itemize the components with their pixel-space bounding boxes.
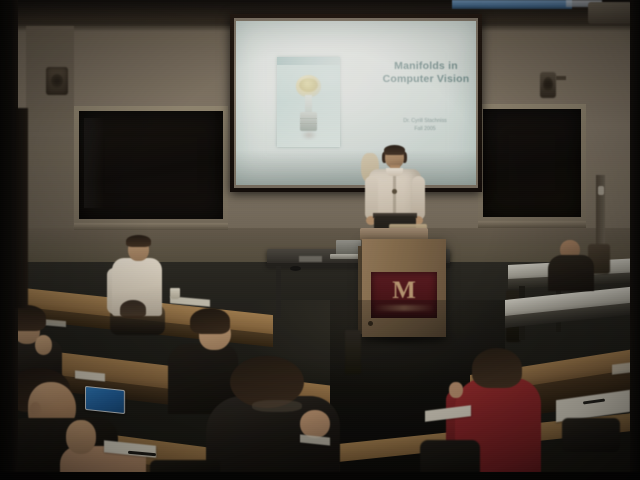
wall-switch-plate (598, 186, 604, 195)
slide-subtitle: Dr. Cyrill Stachniss Fall 2005 (382, 117, 468, 133)
right-frame-edge (630, 0, 640, 480)
left-door-frame (14, 108, 28, 308)
presenter-collar (386, 168, 403, 176)
audience-hair-center-row2 (190, 308, 230, 334)
audience-head-red-shirt (472, 348, 522, 388)
chalkboard-right (483, 109, 581, 217)
audience-hair-white-shirt (126, 235, 151, 247)
av-table-paper (299, 256, 322, 262)
presenter-shirt-placket (393, 176, 396, 216)
chalk-tray-left (74, 223, 228, 230)
speaker-mount-arm (556, 76, 566, 80)
audience-hair-row1-left (120, 300, 146, 318)
projection-lower-shadow (236, 150, 476, 185)
cable-grommet-left (290, 266, 301, 271)
slide-subtitle-line-1: Dr. Cyrill Stachniss (382, 117, 468, 125)
desk-cup (170, 288, 180, 299)
lightbulb-neck (305, 95, 312, 113)
ceiling-projector-housing (588, 2, 632, 24)
slide-title: Manifolds in Computer Vision (378, 60, 474, 86)
slide-title-line-1: Manifolds in (378, 60, 474, 73)
bottom-frame-edge (0, 472, 640, 480)
slide-image-header-band (277, 57, 340, 65)
wall-speaker-right-icon (540, 72, 556, 98)
chalk-tray-right (478, 221, 586, 228)
audience-torso-upper-right (548, 255, 594, 291)
slide-subtitle-line-2: Fall 2005 (382, 125, 468, 133)
brain-filament-icon (299, 78, 318, 92)
audience-hand-red-shirt (449, 382, 463, 398)
blue-notebook (85, 386, 125, 414)
audience-hand-center-front (300, 410, 330, 438)
chalkboard-sheen (84, 118, 104, 208)
slide-title-line-2: Computer Vision (378, 73, 474, 86)
lightbulb-thread-2 (300, 123, 317, 124)
ceiling-light-strip (452, 0, 572, 9)
lightbulb-shadow (301, 130, 317, 140)
audience-ear-front-left (30, 402, 41, 416)
av-table-leg-left (276, 266, 281, 318)
lightbulb-thread-1 (300, 118, 317, 119)
audience-hand-far-left (35, 335, 52, 355)
wall-speaker-left-icon (46, 67, 68, 95)
chair-back-center (345, 330, 361, 374)
slide-image-lightbulb (277, 57, 340, 147)
presenter-shirt-button (392, 189, 397, 194)
lightbulb-base (300, 112, 317, 131)
lecture-hall-video-frame: Manifolds in Computer Vision Dr. Cyrill … (0, 0, 640, 480)
audience-collar-center-front (252, 400, 302, 412)
bag-right (562, 418, 620, 452)
presenter-hair (384, 145, 405, 155)
audience-hand-front-left (66, 420, 96, 454)
